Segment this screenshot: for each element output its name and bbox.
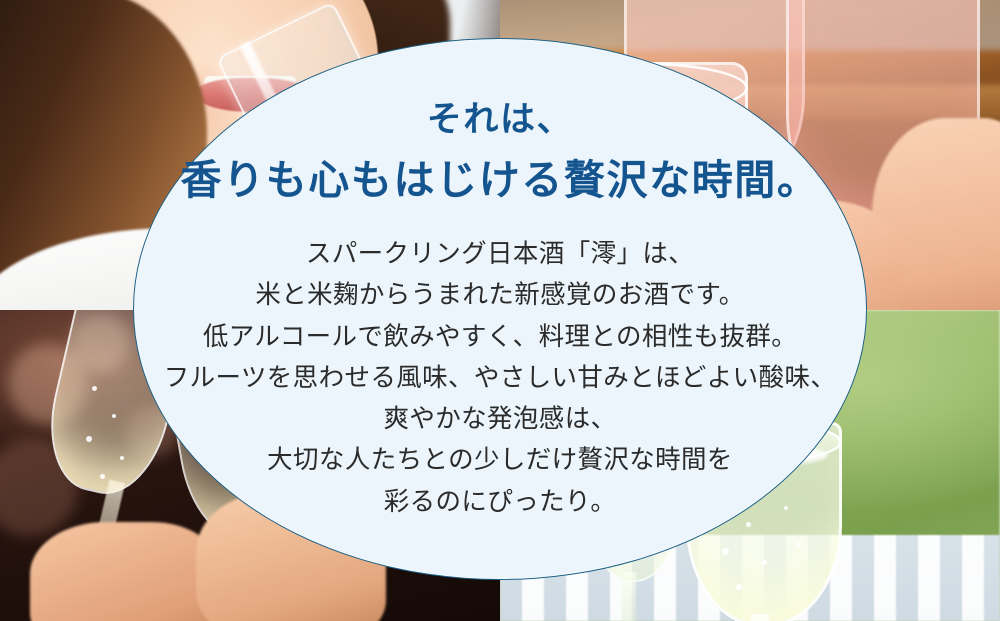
bubble (722, 548, 729, 555)
message-panel: それは、 香りも心もはじける贅沢な時間。 スパークリング日本酒「澪」は、 米と米… (133, 38, 867, 580)
bubble (762, 560, 767, 565)
bubble (120, 456, 124, 460)
bubble (100, 474, 105, 479)
body-line: 低アルコールで飲みやすく、料理との相性も抜群。 (164, 316, 836, 357)
bubble (92, 386, 97, 391)
hand-shape-left (30, 522, 220, 621)
promo-banner: それは、 香りも心もはじける贅沢な時間。 スパークリング日本酒「澪」は、 米と米… (0, 0, 1000, 621)
bubble (86, 436, 92, 442)
bubble (746, 522, 751, 527)
bubble (112, 414, 116, 418)
body-line: フルーツを思わせる風味、やさしい甘みとほどよい酸味、 (164, 357, 836, 398)
panel-headline: それは、 香りも心もはじける贅沢な時間。 (181, 95, 820, 209)
flute-stem-back (622, 572, 636, 621)
panel-body-text: スパークリング日本酒「澪」は、 米と米麹からうまれた新感覚のお酒です。 低アルコ… (164, 233, 836, 522)
body-line: 米と米麹からうまれた新感覚のお酒です。 (164, 274, 836, 315)
headline-line-1: それは、 (181, 95, 820, 145)
body-line: 爽やかな発泡感は、 (164, 398, 836, 439)
flute-stem-front (751, 614, 769, 621)
body-line: スパークリング日本酒「澪」は、 (164, 233, 836, 274)
bubble (736, 584, 742, 590)
bubble (796, 542, 801, 547)
body-line: 彩るのにぴったり。 (164, 481, 836, 522)
headline-line-2: 香りも心もはじける贅沢な時間。 (181, 151, 820, 209)
body-line: 大切な人たちとの少しだけ贅沢な時間を (164, 439, 836, 480)
